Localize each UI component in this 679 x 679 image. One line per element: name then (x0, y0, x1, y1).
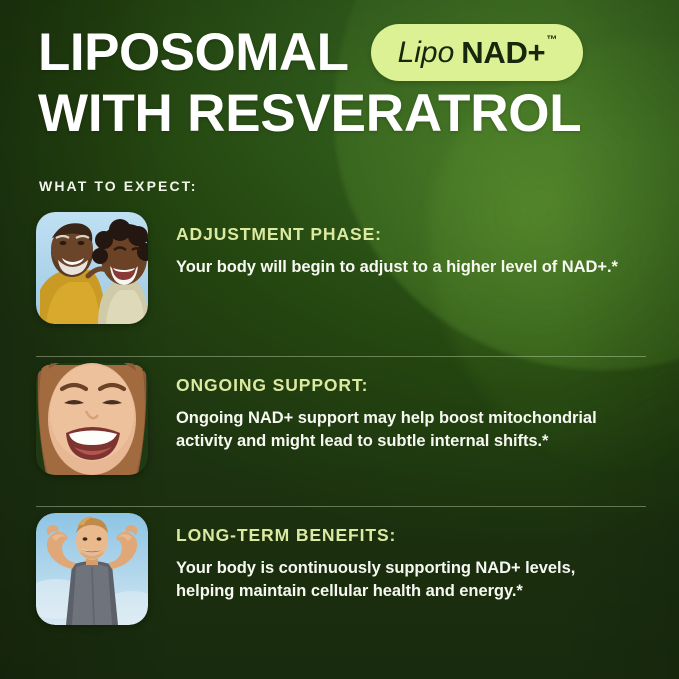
feature-title: ONGOING SUPPORT: (176, 375, 628, 396)
feature-title: ADJUSTMENT PHASE: (176, 224, 618, 245)
photo-smiling-woman (36, 363, 148, 475)
eyebrow-label: WHAT TO EXPECT: (39, 178, 198, 194)
brand-badge: Lipo NAD+ ™ (371, 24, 584, 81)
headline-line-1: LIPOSOMAL (38, 25, 349, 81)
feature-row: ONGOING SUPPORT: Ongoing NAD+ support ma… (36, 356, 646, 506)
headline-block: LIPOSOMAL Lipo NAD+ ™ WITH RESVERATROL (38, 24, 648, 142)
trademark-symbol: ™ (546, 34, 557, 46)
photo-laughing-couple (36, 212, 148, 324)
brand-name-italic: Lipo (398, 36, 455, 70)
feature-list: ADJUSTMENT PHASE: Your body will begin t… (36, 206, 646, 656)
feature-text: ONGOING SUPPORT: Ongoing NAD+ support ma… (176, 363, 628, 453)
headline-line-2: WITH RESVERATROL (38, 86, 648, 142)
feature-row: ADJUSTMENT PHASE: Your body will begin t… (36, 206, 646, 356)
feature-body: Your body will begin to adjust to a high… (176, 256, 618, 279)
photo-man-flexing (36, 513, 148, 625)
feature-body: Ongoing NAD+ support may help boost mito… (176, 407, 628, 453)
product-benefits-infographic: LIPOSOMAL Lipo NAD+ ™ WITH RESVERATROL W… (0, 0, 679, 679)
feature-text: ADJUSTMENT PHASE: Your body will begin t… (176, 212, 618, 279)
feature-body: Your body is continuously supporting NAD… (176, 557, 628, 603)
headline-row-1: LIPOSOMAL Lipo NAD+ ™ (38, 24, 648, 81)
brand-name-bold: NAD+ (461, 35, 545, 71)
feature-title: LONG-TERM BENEFITS: (176, 525, 628, 546)
feature-text: LONG-TERM BENEFITS: Your body is continu… (176, 513, 628, 603)
feature-row: LONG-TERM BENEFITS: Your body is continu… (36, 506, 646, 656)
